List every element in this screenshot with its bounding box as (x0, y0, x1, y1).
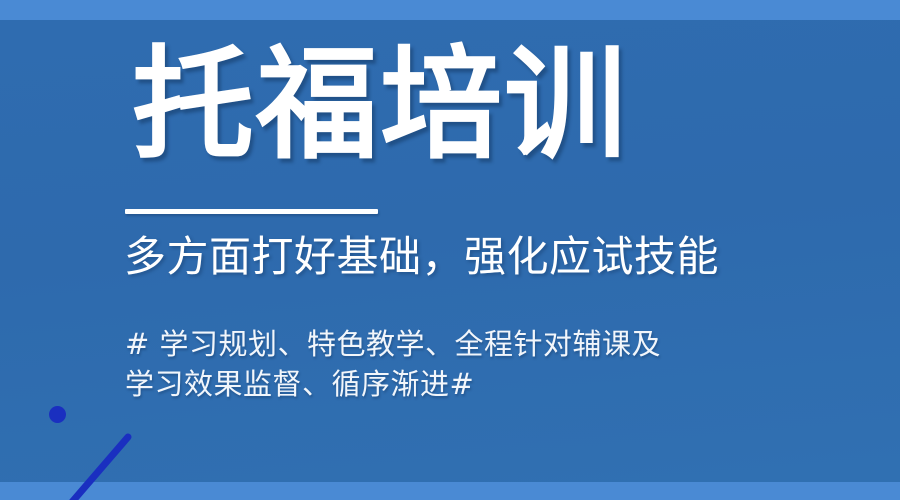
title-divider (125, 209, 378, 214)
promo-banner: 托福培训 多方面打好基础，强化应试技能 # 学习规划、特色教学、全程针对辅课及 … (0, 0, 900, 500)
page-title: 托福培训 (132, 44, 628, 166)
tagline-line-1: # 学习规划、特色教学、全程针对辅课及 (125, 324, 725, 364)
subtitle: 多方面打好基础，强化应试技能 (124, 234, 719, 280)
tagline-block: # 学习规划、特色教学、全程针对辅课及 学习效果监督、循序渐进# (125, 324, 725, 404)
tagline-line-2: 学习效果监督、循序渐进# (125, 364, 725, 404)
banner-content: 托福培训 多方面打好基础，强化应试技能 # 学习规划、特色教学、全程针对辅课及 … (0, 0, 900, 500)
